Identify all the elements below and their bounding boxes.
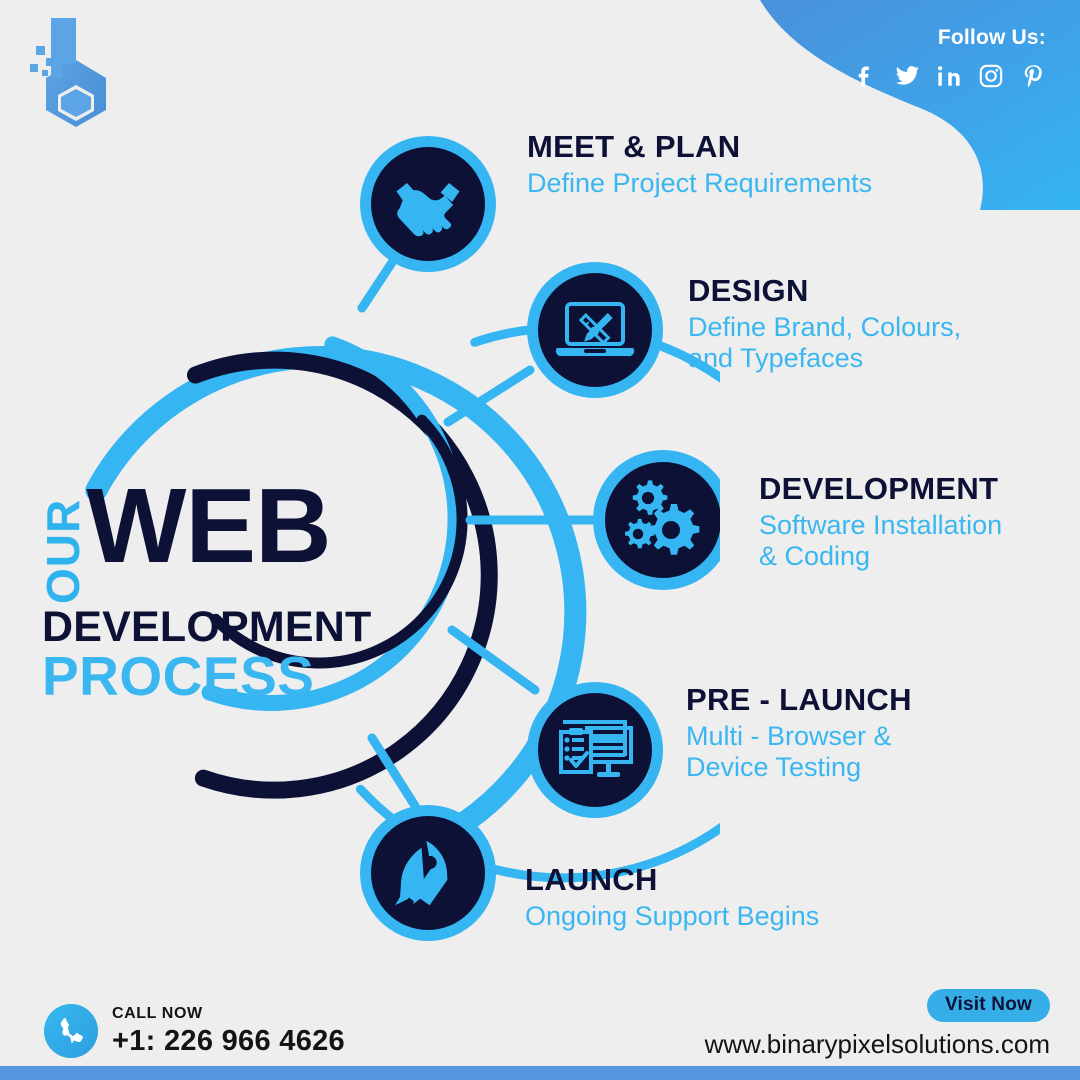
visit-now-button[interactable]: Visit Now <box>927 989 1050 1022</box>
follow-us-label: Follow Us: <box>852 26 1046 50</box>
step-title: DESIGN <box>688 275 961 308</box>
call-now-label: CALL NOW <box>112 1004 345 1023</box>
step-title: DEVELOPMENT <box>759 473 1002 506</box>
node-development[interactable] <box>593 450 720 590</box>
linkedin-icon[interactable] <box>936 62 962 90</box>
node-pre-launch[interactable] <box>527 682 663 818</box>
step-desc: Ongoing Support Begins <box>525 901 819 933</box>
page-title: OUR WEB DEVELOPMENT PROCESS <box>42 480 422 704</box>
node-launch[interactable] <box>360 805 496 941</box>
phone-number[interactable]: +1: 226 966 4626 <box>112 1025 345 1057</box>
headline-process: PROCESS <box>42 648 422 704</box>
step-title: LAUNCH <box>525 864 819 897</box>
headline-our: OUR <box>42 486 84 604</box>
step-desc: Define Brand, Colours, and Typefaces <box>688 312 961 376</box>
step-label-development: DEVELOPMENT Software Installation & Codi… <box>759 473 1002 573</box>
step-desc: Software Installation & Coding <box>759 510 1002 574</box>
step-desc: Define Project Requirements <box>527 168 872 200</box>
instagram-icon[interactable] <box>978 62 1004 90</box>
twitter-icon[interactable] <box>894 62 920 90</box>
infographic-poster: Follow Us: <box>0 0 1080 1080</box>
step-label-meet-and-plan: MEET & PLAN Define Project Requirements <box>527 131 872 199</box>
website-url[interactable]: www.binarypixelsolutions.com <box>705 1029 1050 1060</box>
phone-icon-badge <box>44 1004 98 1058</box>
facebook-icon[interactable] <box>852 62 878 90</box>
phone-icon <box>56 1016 86 1046</box>
call-now-block[interactable]: CALL NOW +1: 226 966 4626 <box>44 1004 345 1058</box>
follow-us-block: Follow Us: <box>852 26 1046 90</box>
step-desc: Multi - Browser & Device Testing <box>686 721 912 785</box>
headline-web: WEB <box>86 480 330 573</box>
step-label-launch: LAUNCH Ongoing Support Begins <box>525 864 819 932</box>
headline-development: DEVELOPMENT <box>42 606 422 650</box>
pinterest-icon[interactable] <box>1020 62 1046 90</box>
footer-bar <box>0 1066 1080 1080</box>
step-label-pre-launch: PRE - LAUNCH Multi - Browser & Device Te… <box>686 684 912 784</box>
step-title: MEET & PLAN <box>527 131 872 164</box>
node-meet-and-plan[interactable] <box>360 136 496 272</box>
node-design[interactable] <box>527 262 663 398</box>
step-title: PRE - LAUNCH <box>686 684 912 717</box>
step-label-design: DESIGN Define Brand, Colours, and Typefa… <box>688 275 961 375</box>
social-icon-row <box>852 62 1046 90</box>
website-block: Visit Now www.binarypixelsolutions.com <box>705 989 1050 1060</box>
